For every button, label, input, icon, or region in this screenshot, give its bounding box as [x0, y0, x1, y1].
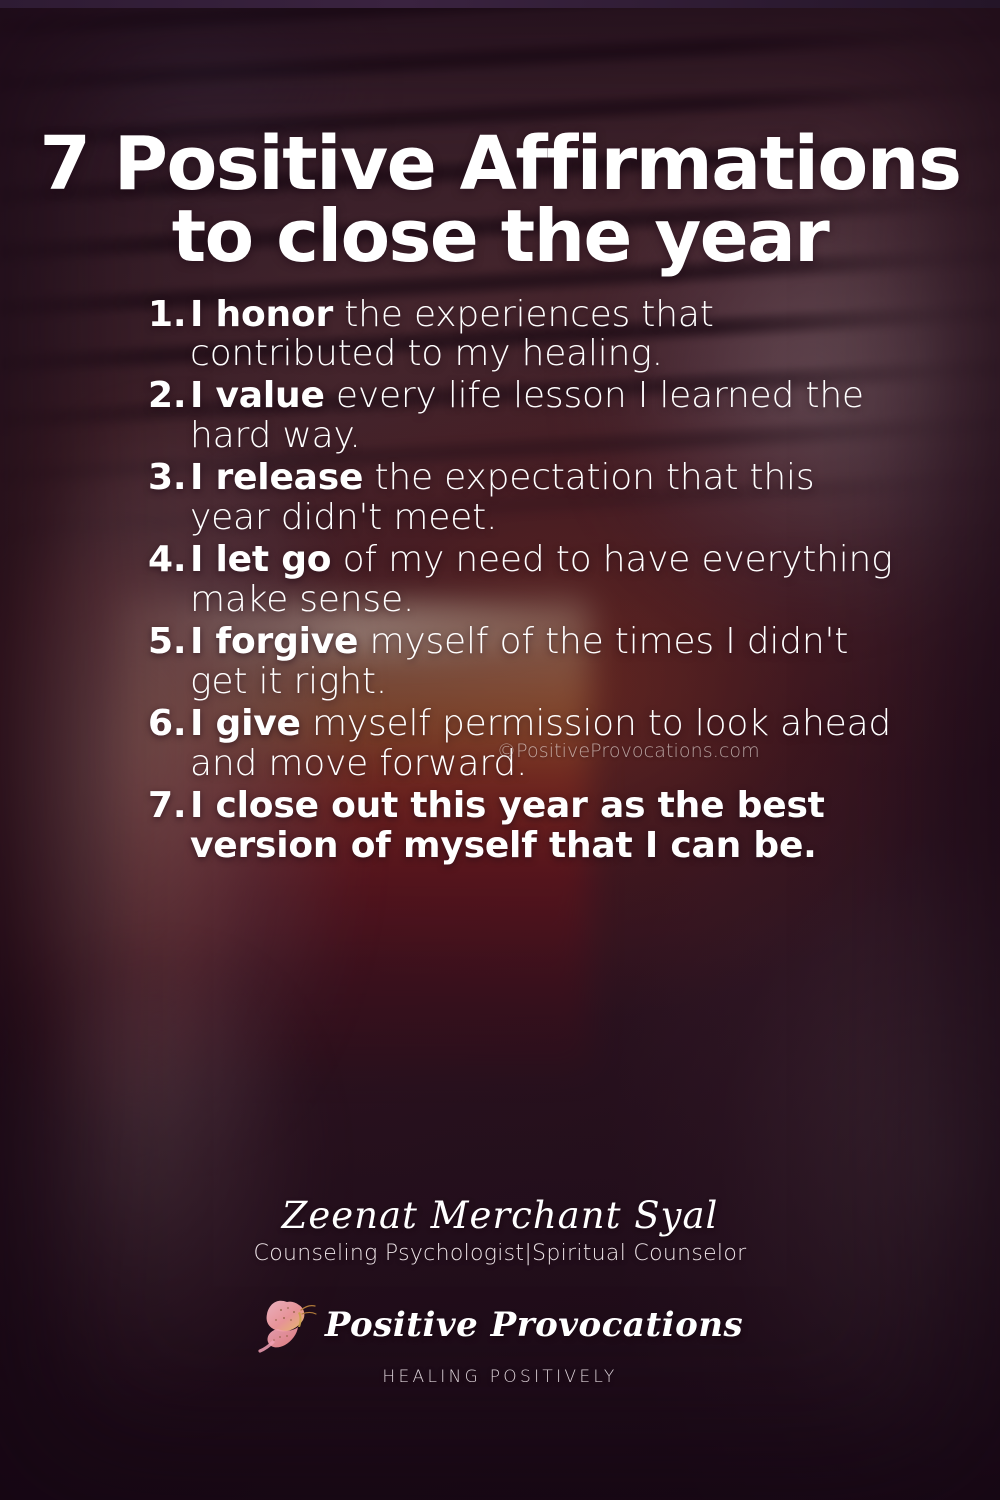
list-item-number: 1. [148, 295, 186, 335]
list-item: 7.I close out this year as the best vers… [148, 786, 905, 866]
list-item-number: 5. [148, 622, 186, 662]
list-item: 3.I release the expectation that this ye… [148, 458, 905, 538]
list-item-lead: I close out this year as the best [190, 785, 825, 826]
list-item: 5.I forgive myself of the times I didn't… [148, 622, 905, 702]
brand-wordmark: Positive Provocations [325, 1305, 743, 1345]
list-item-lead: I give [190, 703, 301, 744]
poster-content: 7 Positive Affirmations to close the yea… [0, 0, 1000, 1500]
signature-block: Zeenat Merchant Syal Counseling Psycholo… [0, 1196, 1000, 1266]
list-item-text: version of myself that I can be. [190, 825, 817, 866]
brand-tagline: HEALING POSITIVELY [0, 1367, 1000, 1387]
list-item: 2.I value every life lesson I learned th… [148, 376, 905, 456]
logo-row: Positive Provocations [0, 1296, 1000, 1354]
list-item-number: 4. [148, 540, 186, 580]
list-item: 1.I honor the experiences that contribut… [148, 295, 905, 375]
affirmations-list: 1.I honor the experiences that contribut… [0, 295, 1000, 866]
list-item-number: 3. [148, 458, 186, 498]
list-item-number: 7. [148, 786, 186, 826]
list-item-lead: I let go [190, 539, 331, 580]
author-role: Counseling Psychologist|Spiritual Counse… [0, 1241, 1000, 1266]
title-line-2: to close the year [34, 201, 966, 272]
list-item-lead: I forgive [190, 621, 358, 662]
author-name: Zeenat Merchant Syal [0, 1196, 1000, 1237]
butterfly-icon [257, 1296, 319, 1354]
copyright-watermark: ©PositiveProvocations.com [497, 740, 760, 762]
list-item-number: 6. [148, 704, 186, 744]
affirmations-poster: 7 Positive Affirmations to close the yea… [0, 0, 1000, 1500]
list-item-lead: I honor [190, 294, 333, 335]
page-title: 7 Positive Affirmations to close the yea… [0, 0, 1000, 273]
list-item: 4.I let go of my need to have everything… [148, 540, 905, 620]
brand-logo-block: Positive Provocations HEALING POSITIVELY [0, 1296, 1000, 1387]
title-line-1: 7 Positive Affirmations [34, 128, 966, 201]
list-item-lead: I release [190, 457, 363, 498]
list-item-number: 2. [148, 376, 186, 416]
list-item-lead: I value [190, 375, 325, 416]
